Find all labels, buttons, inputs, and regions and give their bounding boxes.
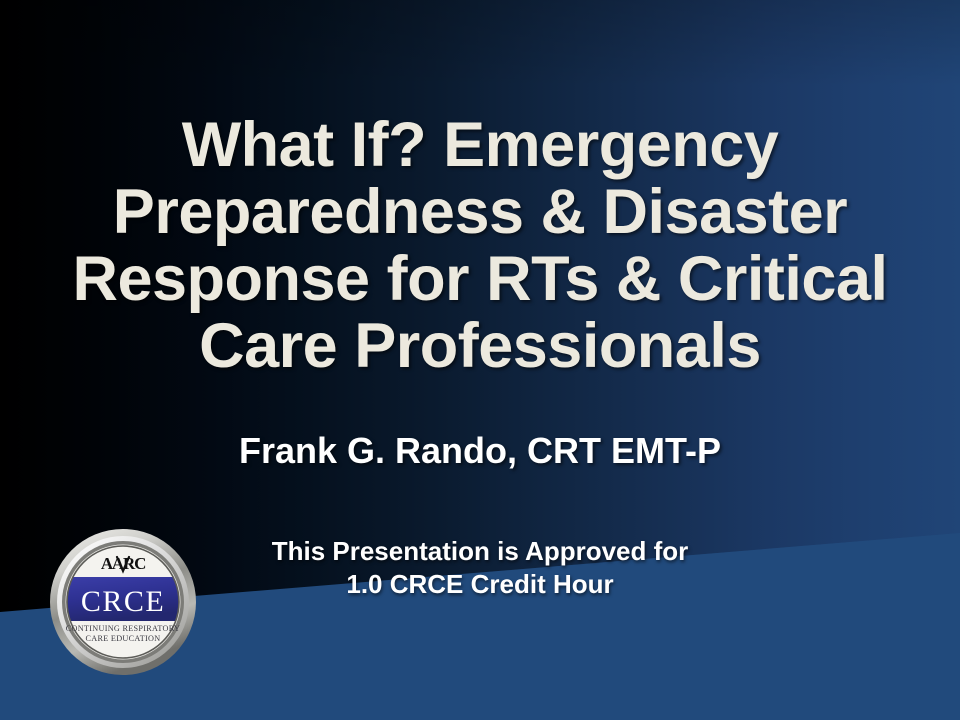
- slide-title-line-3: Response for RTs & Critical: [0, 246, 960, 313]
- seal-subtitle-line-2: CARE EDUCATION: [86, 634, 161, 643]
- seal-acronym-text: CRCE: [81, 585, 165, 618]
- slide-title-line-1: What If? Emergency: [0, 112, 960, 179]
- aarc-monogram-icon: AARC: [101, 554, 145, 573]
- seal-subtitle-line-1: CONTINUING RESPIRATORY: [66, 624, 181, 633]
- slide-title-line-2: Preparedness & Disaster: [0, 179, 960, 246]
- presentation-title-slide: What If? Emergency Preparedness & Disast…: [0, 0, 960, 720]
- slide-title-line-4: Care Professionals: [0, 313, 960, 380]
- crce-seal-logo: AARC CRCE CONTINUING RESPIRATORY CARE ED…: [48, 527, 198, 677]
- slide-title: What If? Emergency Preparedness & Disast…: [0, 112, 960, 380]
- presenter-name: Frank G. Rando, CRT EMT-P: [0, 429, 960, 473]
